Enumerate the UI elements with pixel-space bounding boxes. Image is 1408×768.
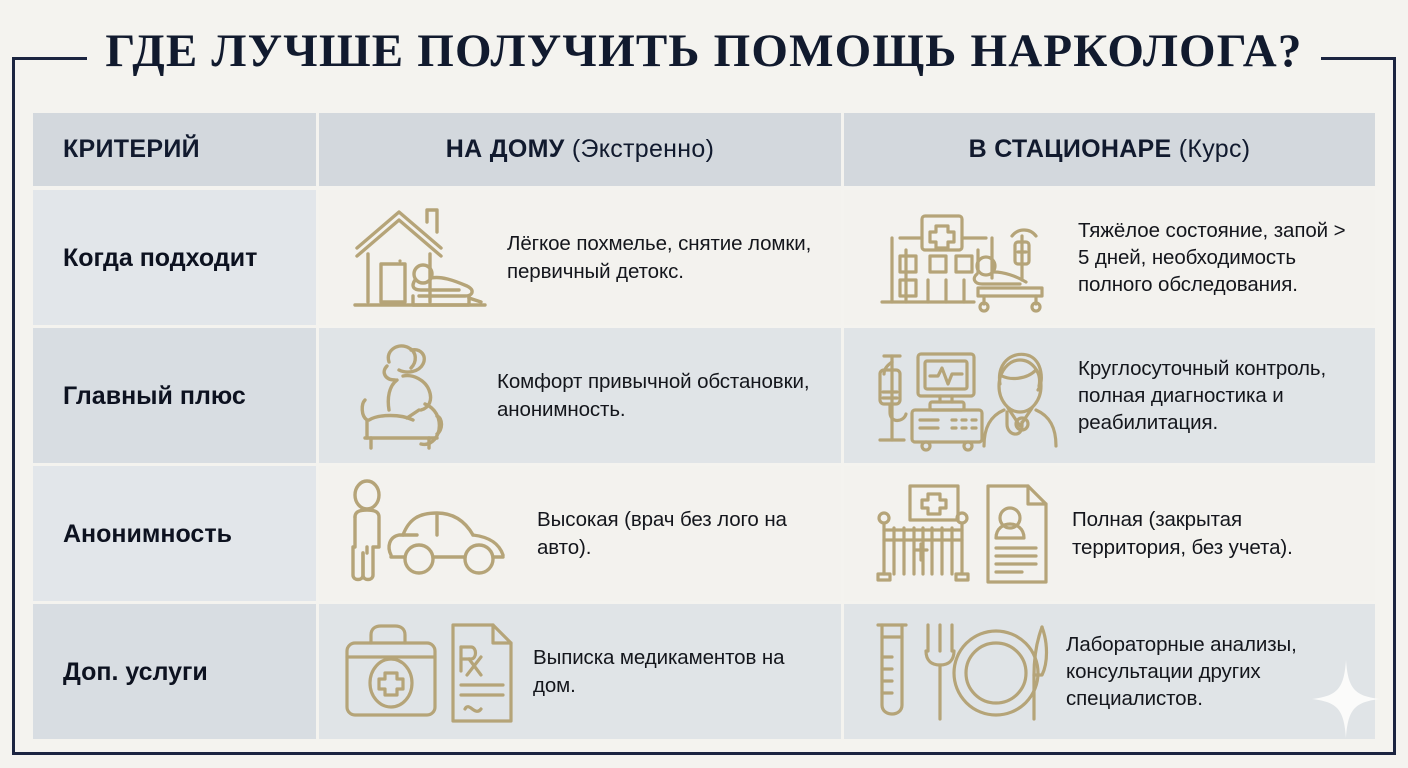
row-criteria-cell: Доп. услуги bbox=[33, 604, 316, 739]
table-row: Когда подходит bbox=[33, 190, 1375, 325]
row-home-cell: Лёгкое похмелье, снятие ломки, первичный… bbox=[319, 190, 841, 325]
row-clinic-cell: Лабораторные анализы, консультации други… bbox=[844, 604, 1375, 739]
row-clinic-text: Тяжёлое состояние, запой > 5 дней, необх… bbox=[1078, 217, 1359, 299]
header-label-clinic: В СТАЦИОНАРЕ (Курс) bbox=[969, 135, 1251, 164]
hospital-building-with-patient-bed-icon bbox=[870, 202, 1062, 314]
row-home-text: Лёгкое похмелье, снятие ломки, первичный… bbox=[507, 230, 825, 285]
header-label-home-thin: (Экстренно) bbox=[572, 135, 714, 163]
header-label-criteria: КРИТЕРИЙ bbox=[63, 135, 200, 164]
table-row: Доп. услуги bbox=[33, 604, 1375, 739]
row-home-cell: Выписка медикаментов на дом. bbox=[319, 604, 841, 739]
fence-gate-and-medical-record-icon bbox=[870, 478, 1056, 590]
row-home-text: Выписка медикаментов на дом. bbox=[533, 644, 825, 699]
criteria-label: Анонимность bbox=[63, 519, 232, 549]
row-home-text: Комфорт привычной обстановки, анонимност… bbox=[497, 368, 825, 423]
row-home-cell: Высокая (врач без лого на авто). bbox=[319, 466, 841, 601]
table-row: Анонимность bbox=[33, 466, 1375, 601]
row-home-cell: Комфорт привычной обстановки, анонимност… bbox=[319, 328, 841, 463]
header-cell-criteria: КРИТЕРИЙ bbox=[33, 113, 316, 186]
iv-drip-monitor-doctor-icon bbox=[870, 340, 1062, 452]
person-relaxing-in-armchair-icon bbox=[341, 338, 481, 454]
row-clinic-cell: Тяжёлое состояние, запой > 5 дней, необх… bbox=[844, 190, 1375, 325]
row-home-text: Высокая (врач без лого на авто). bbox=[537, 506, 825, 561]
header-label-home: НА ДОМУ (Экстренно) bbox=[446, 135, 714, 164]
header-cell-home: НА ДОМУ (Экстренно) bbox=[319, 113, 841, 186]
comparison-table: КРИТЕРИЙ НА ДОМУ (Экстренно) В СТАЦИОНАР… bbox=[33, 113, 1375, 742]
row-clinic-cell: Круглосуточный контроль, полная диагност… bbox=[844, 328, 1375, 463]
header-label-clinic-thin: (Курс) bbox=[1179, 135, 1251, 163]
row-clinic-cell: Полная (закрытая территория, без учета). bbox=[844, 466, 1375, 601]
test-tube-and-meal-plate-icon bbox=[870, 617, 1050, 727]
row-criteria-cell: Главный плюс bbox=[33, 328, 316, 463]
criteria-label: Доп. услуги bbox=[63, 657, 208, 687]
person-beside-unmarked-car-icon bbox=[341, 479, 521, 589]
criteria-label: Когда подходит bbox=[63, 243, 257, 273]
row-clinic-text: Лабораторные анализы, консультации други… bbox=[1066, 631, 1359, 713]
table-header-row: КРИТЕРИЙ НА ДОМУ (Экстренно) В СТАЦИОНАР… bbox=[33, 113, 1375, 186]
header-label-clinic-strong: В СТАЦИОНАРЕ bbox=[969, 135, 1172, 163]
row-criteria-cell: Когда подходит bbox=[33, 190, 316, 325]
criteria-label: Главный плюс bbox=[63, 381, 246, 411]
first-aid-kit-and-prescription-icon bbox=[341, 617, 517, 727]
house-with-patient-on-bed-icon bbox=[341, 202, 491, 314]
row-clinic-text: Круглосуточный контроль, полная диагност… bbox=[1078, 355, 1359, 437]
row-clinic-text: Полная (закрытая территория, без учета). bbox=[1072, 506, 1359, 561]
table-row: Главный плюс bbox=[33, 328, 1375, 463]
header-cell-clinic: В СТАЦИОНАРЕ (Курс) bbox=[844, 113, 1375, 186]
header-label-home-strong: НА ДОМУ bbox=[446, 135, 565, 163]
row-criteria-cell: Анонимность bbox=[33, 466, 316, 601]
page-title: ГДЕ ЛУЧШЕ ПОЛУЧИТЬ ПОМОЩЬ НАРКОЛОГА? bbox=[0, 24, 1408, 78]
